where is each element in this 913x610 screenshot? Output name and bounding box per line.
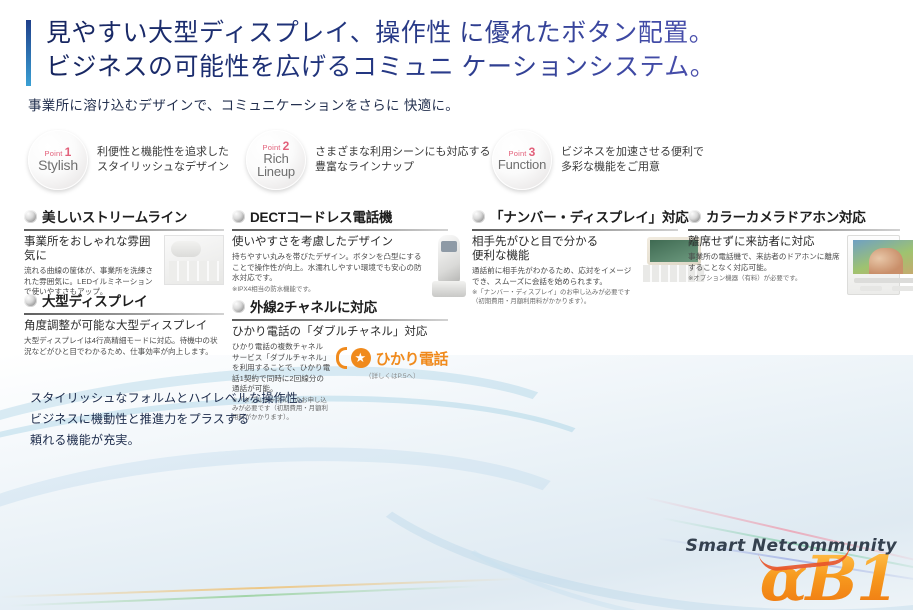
hikari-arc-icon [336, 347, 347, 369]
closing-copy-line-1: スタイリッシュなフォルムとハイレベルな操作性。 [30, 388, 310, 409]
point-description-2-line-1: さまざまな利用シーンにも対応する [315, 145, 490, 161]
point-description-1-line-2: スタイリッシュなデザイン [97, 160, 229, 176]
feature-title: DECTコードレス電話機 [250, 206, 392, 226]
feature-title: カラーカメラドアホン対応 [706, 206, 866, 226]
hikari-denwa-logo: ひかり電話 （詳しくはP.5へ） [336, 349, 448, 380]
point-description-1-line-1: 利便性と機能性を追求した [97, 145, 229, 161]
feature-title: 外線2チャネルに対応 [250, 296, 377, 316]
feature-note: ※IPX4相当の防水機能です。 [232, 286, 426, 294]
bullet-circle-icon [232, 210, 245, 223]
point-description-2-line-2: 豊富なラインナップ [315, 160, 490, 176]
divider [232, 229, 448, 231]
feature-thumbnail-cordless-handset [432, 235, 448, 297]
page-title-line-2: ビジネスの可能性を広げるコミュニ ケーションシステム。 [46, 50, 886, 84]
feature-heading: 「ナンバー・ディスプレイ」対応 [472, 206, 678, 228]
point-item-1: Point1 Stylish 利便性と機能性を追求した スタイリッシュなデザイン [28, 130, 229, 190]
feature-subtitle-line-2: 便利な機能 [472, 249, 637, 263]
point-label-1: Stylish [38, 158, 78, 172]
page-title-line-1: 見やすい大型ディスプレイ、操作性 に優れたボタン配置。 [46, 16, 886, 50]
feature-title: 美しいストリームライン [42, 206, 187, 226]
point-badge-caption-2: Point2 [263, 142, 290, 152]
product-brand-lockup: Smart Netcommunity αB1 [686, 536, 897, 608]
divider [472, 229, 678, 231]
feature-note: ※「ナンバー・ディスプレイ」のお申し込みが必要です（初期費用・月額利用料がかかり… [472, 289, 637, 306]
feature-title: 「ナンバー・ディスプレイ」対応 [490, 206, 689, 226]
feature-heading: DECTコードレス電話機 [232, 206, 448, 228]
point-label-2-line-2: Lineup [257, 165, 295, 179]
point-badge-1: Point1 Stylish [28, 130, 88, 190]
divider [232, 319, 448, 321]
feature-body: 通話前に相手先がわかるため、応対をイメージでき、スムーズに会話を始められます。 [472, 266, 637, 287]
point-description-3: ビジネスを加速させる便利で 多彩な機能をご用意 [561, 145, 704, 176]
hikari-logo-text: ひかり電話 [375, 348, 448, 369]
bullet-circle-icon [24, 294, 37, 307]
header-accent-bar [26, 20, 31, 86]
feature-heading: 外線2チャネルに対応 [232, 296, 448, 318]
feature-body: 事業所の電話機で、来訪者のドアホンに離席することなく対応可能。 [688, 252, 841, 273]
point-badge-2: Point2 Rich Lineup [246, 130, 306, 190]
hikari-logo-note: （詳しくはP.5へ） [336, 370, 448, 380]
feature-dect-cordless: DECTコードレス電話機 使いやすさを考慮したデザイン 持ちやすい丸みを帯びたデ… [232, 206, 448, 297]
page-subtitle: 事業所に溶け込むデザインで、コミュニケーションをさらに 快適に。 [28, 94, 886, 114]
point-description-3-line-2: 多彩な機能をご用意 [561, 160, 704, 176]
feature-title: 大型ディスプレイ [42, 290, 147, 310]
divider [24, 313, 224, 315]
bullet-circle-icon [472, 210, 485, 223]
closing-copy-line-2: ビジネスに機動性と推進力をプラスする [30, 409, 310, 430]
page-header: 見やすい大型ディスプレイ、操作性 に優れたボタン配置。 ビジネスの可能性を広げる… [26, 16, 886, 114]
bullet-circle-icon [232, 300, 245, 313]
feature-body: 持ちやすい丸みを帯びたデザイン。ボタンを凸型にすることで操作性が向上。水濡れしや… [232, 252, 426, 284]
feature-subtitle: 使いやすさを考慮したデザイン [232, 235, 426, 249]
bullet-circle-icon [688, 210, 701, 223]
point-badge-3: Point3 Function [492, 130, 552, 190]
feature-note: ※オプション機器（有料）が必要です。 [688, 275, 841, 283]
feature-thumbnail-console [164, 235, 224, 285]
feature-subtitle: 角度調整が可能な大型ディスプレイ [24, 319, 224, 333]
closing-copy: スタイリッシュなフォルムとハイレベルな操作性。 ビジネスに機動性と推進力をプラス… [30, 388, 310, 451]
point-description-2: さまざまな利用シーンにも対応する 豊富なラインナップ [315, 145, 490, 176]
feature-number-display: 「ナンバー・ディスプレイ」対応 相手先がひと目で分かる 便利な機能 通話前に相手… [472, 206, 678, 306]
feature-large-display: 大型ディスプレイ 角度調整が可能な大型ディスプレイ 大型ディスプレイは4行高精細… [24, 290, 224, 357]
point-item-2: Point2 Rich Lineup さまざまな利用シーンにも対応する 豊富なラ… [246, 130, 490, 190]
point-label-2-line-1: Rich [263, 152, 288, 166]
feature-thumbnail-number-display [643, 235, 678, 283]
points-row: Point1 Stylish 利便性と機能性を追求した スタイリッシュなデザイン… [26, 130, 896, 192]
feature-subtitle: 離席せずに来訪者に対応 [688, 235, 841, 249]
feature-heading: 美しいストリームライン [24, 206, 224, 228]
point-description-1: 利便性と機能性を追求した スタイリッシュなデザイン [97, 145, 229, 176]
closing-copy-line-3: 頼れる機能が充実。 [30, 430, 310, 451]
feature-body: 大型ディスプレイは4行高精細モードに対応。待機中の状況などがひと目でわかるため、… [24, 336, 224, 357]
brochure-page: 見やすい大型ディスプレイ、操作性 に優れたボタン配置。 ビジネスの可能性を広げる… [0, 0, 913, 610]
feature-color-camera-door-phone: カラーカメラドアホン対応 離席せずに来訪者に対応 事業所の電話機で、来訪者のドア… [688, 206, 900, 295]
feature-subtitle: ひかり電話の「ダブルチャネル」対応 [232, 325, 448, 339]
point-label-3: Function [498, 158, 546, 172]
feature-subtitle-line-1: 相手先がひと目で分かる [472, 235, 637, 249]
feature-subtitle: 事業所をおしゃれな雰囲気に [24, 235, 158, 263]
feature-stream-line: 美しいストリームライン 事業所をおしゃれな雰囲気に 流れる曲線の筐体が、事業所を… [24, 206, 224, 298]
feature-heading: カラーカメラドアホン対応 [688, 206, 900, 228]
bullet-circle-icon [24, 210, 37, 223]
divider [688, 229, 900, 231]
feature-heading: 大型ディスプレイ [24, 290, 224, 312]
point-item-3: Point3 Function ビジネスを加速させる便利で 多彩な機能をご用意 [492, 130, 704, 190]
star-icon [351, 348, 371, 368]
point-description-3-line-1: ビジネスを加速させる便利で [561, 145, 704, 161]
divider [24, 229, 224, 231]
feature-thumbnail-door-monitor [847, 235, 900, 295]
